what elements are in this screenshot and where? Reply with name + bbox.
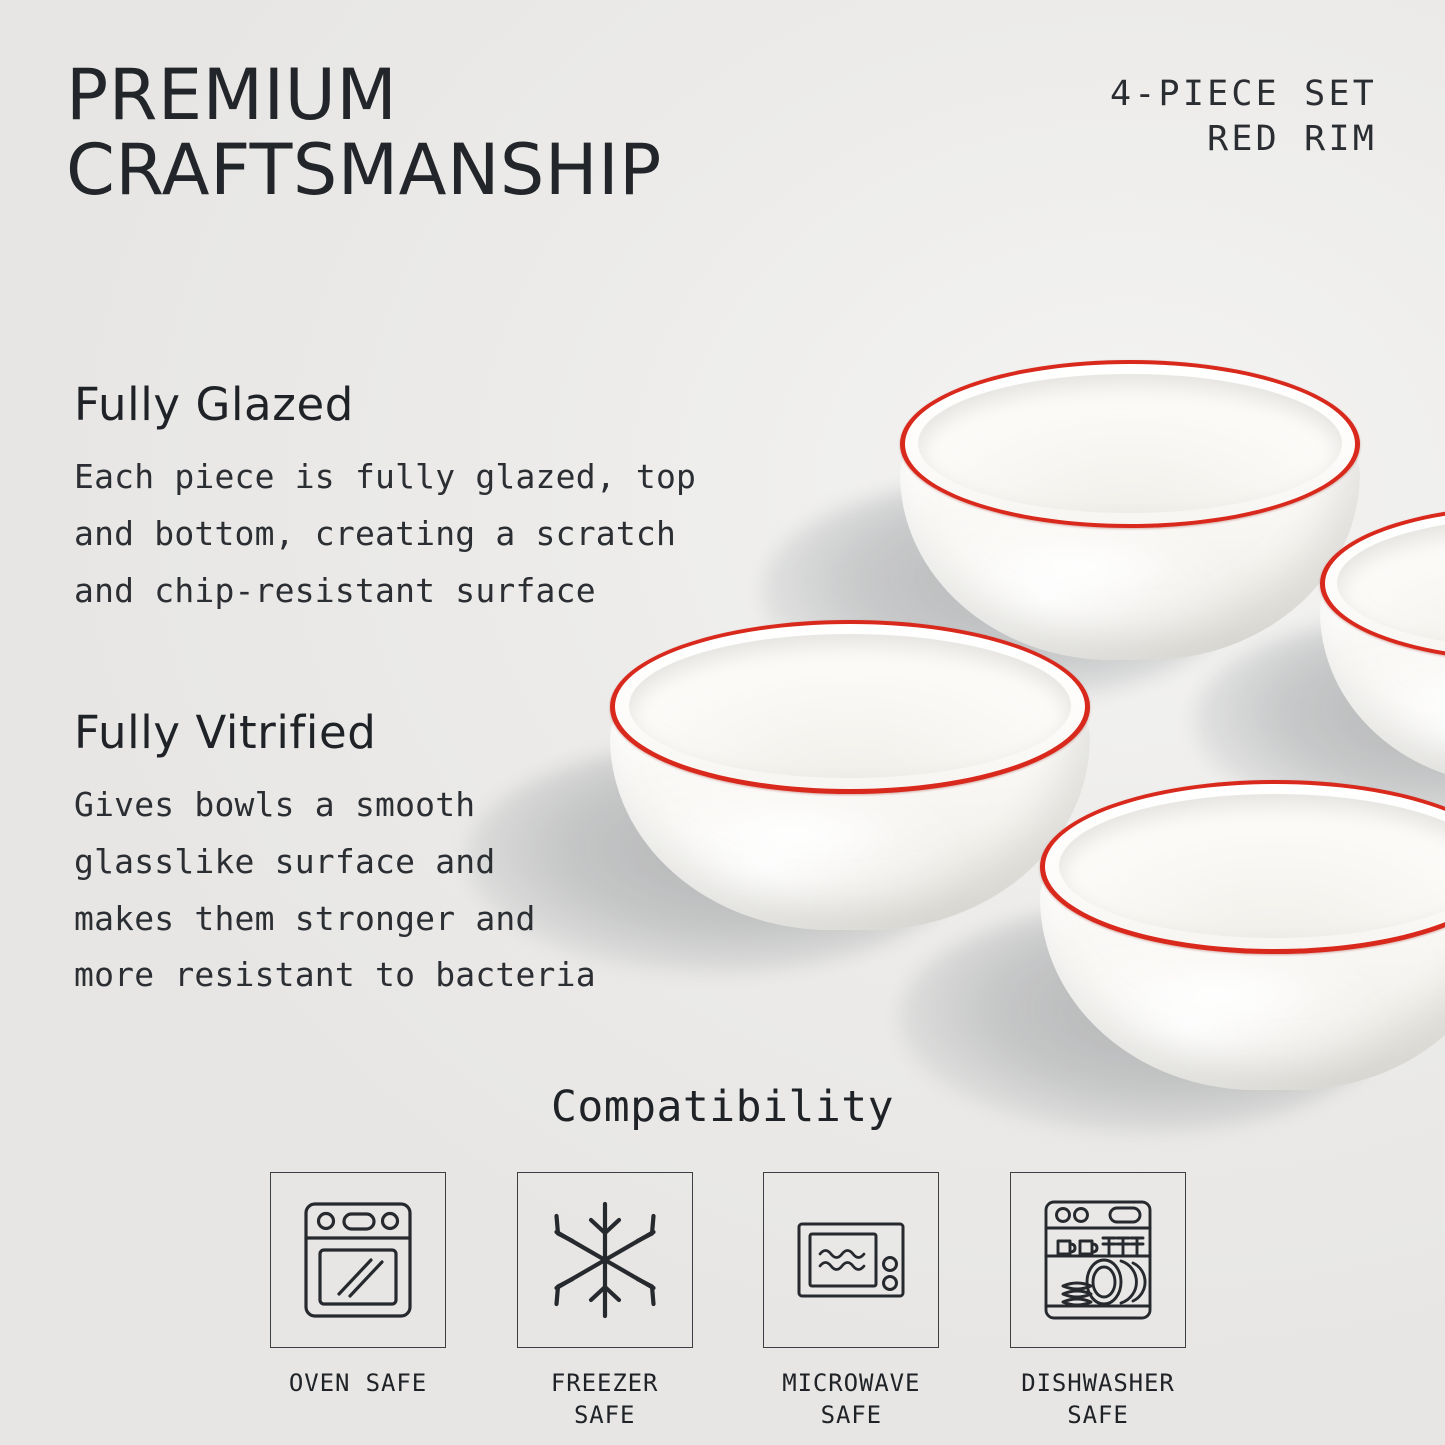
bowl-inner: [629, 634, 1071, 778]
oven-icon: [292, 1194, 424, 1326]
snowflake-icon: [539, 1194, 671, 1326]
dishwasher-icon-box: [1010, 1172, 1186, 1348]
dishwasher-icon: [1032, 1194, 1164, 1326]
compat-label: OVEN SAFE: [289, 1368, 427, 1400]
feature-title: Fully Glazed: [74, 378, 774, 431]
bowl: [1320, 505, 1445, 785]
compat-item-microwave: MICROWAVE SAFE: [761, 1172, 941, 1431]
compatibility-title: Compatibility: [0, 1082, 1445, 1132]
bowl-right-edge: [1320, 505, 1445, 785]
compat-label: FREEZER SAFE: [551, 1368, 658, 1431]
feature-fully-vitrified: Fully Vitrified Gives bowls a smooth gla…: [74, 706, 654, 1004]
snowflake-icon-box: [517, 1172, 693, 1348]
feature-body: Each piece is fully glazed, top and bott…: [74, 449, 774, 619]
bowl: [1040, 780, 1445, 1090]
microwave-icon-box: [763, 1172, 939, 1348]
page-title: PREMIUM CRAFTSMANSHIP: [66, 58, 926, 208]
bowl-gloss: [1115, 960, 1331, 1028]
bowl-top-right: [900, 360, 1360, 660]
compat-label: MICROWAVE SAFE: [782, 1368, 920, 1431]
compat-item-freezer: FREEZER SAFE: [515, 1172, 695, 1431]
bowl: [900, 360, 1360, 660]
bowl-center-left: [610, 620, 1090, 930]
bowl-inner: [918, 374, 1341, 514]
feature-fully-glazed: Fully Glazed Each piece is fully glazed,…: [74, 378, 774, 619]
bowl: [610, 620, 1090, 930]
set-badge: 4-PIECE SET RED RIM: [1110, 72, 1377, 162]
compatibility-icon-row: OVEN SAFE: [268, 1172, 1188, 1431]
oven-icon-box: [270, 1172, 446, 1348]
bowl-bottom-right: [1040, 780, 1445, 1090]
compat-label: DISHWASHER SAFE: [1021, 1368, 1175, 1431]
product-infographic: PREMIUM CRAFTSMANSHIP 4-PIECE SET RED RI…: [0, 0, 1445, 1445]
compat-item-oven: OVEN SAFE: [268, 1172, 448, 1431]
compat-item-dishwasher: DISHWASHER SAFE: [1008, 1172, 1188, 1431]
bowl-gloss: [974, 534, 1186, 600]
feature-body: Gives bowls a smooth glasslike surface a…: [74, 777, 654, 1004]
feature-title: Fully Vitrified: [74, 706, 654, 759]
microwave-icon: [785, 1194, 917, 1326]
bowl-gloss: [687, 800, 908, 868]
